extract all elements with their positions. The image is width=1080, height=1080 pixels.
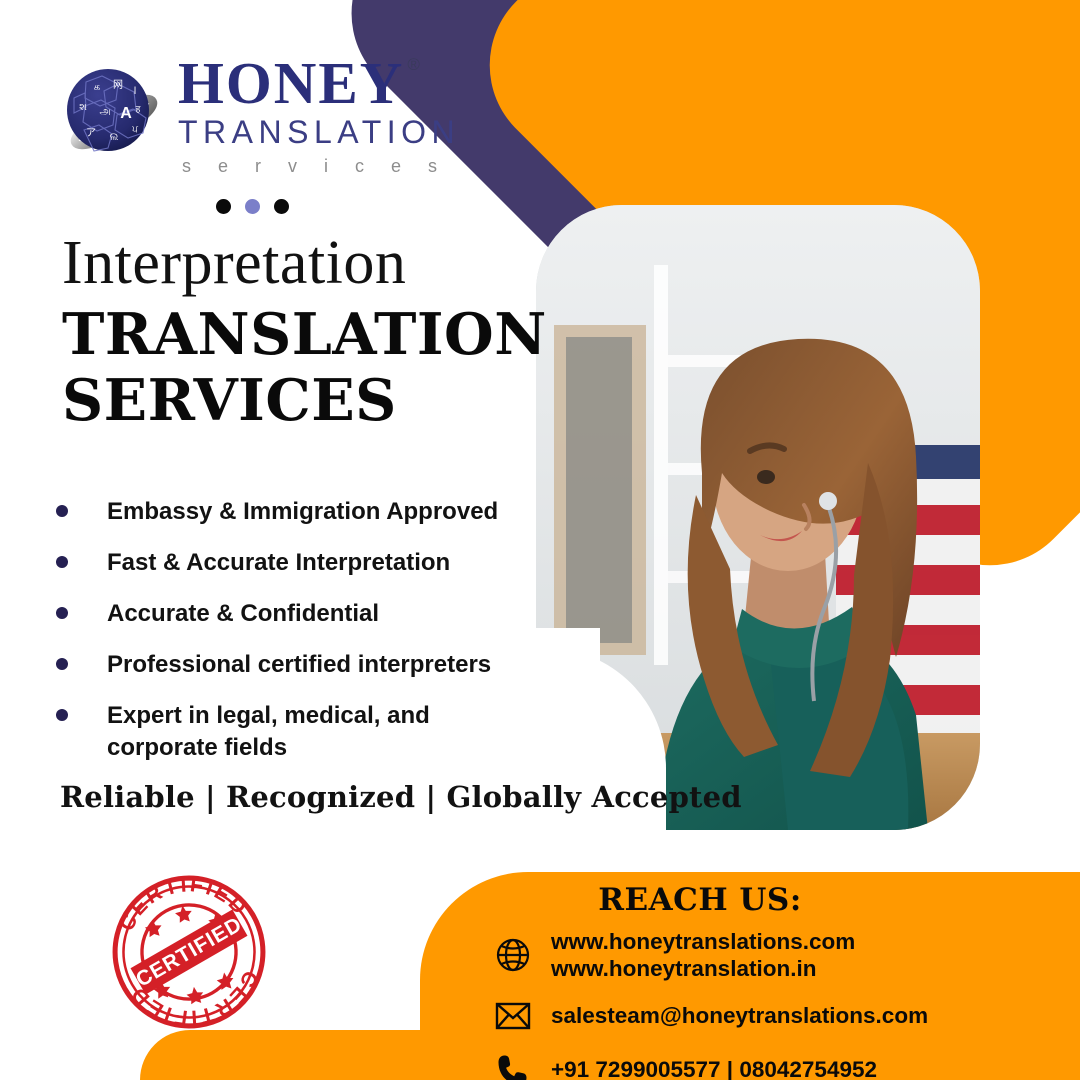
list-item-label: Professional certified interpreters bbox=[107, 649, 491, 681]
svg-text:ア: ア bbox=[86, 128, 96, 139]
interpreter-photo-illustration bbox=[536, 205, 980, 830]
globe-icon bbox=[492, 934, 534, 976]
headline-main-line-2: SERVICES bbox=[62, 368, 532, 434]
headline-script-line: Interpretation bbox=[62, 232, 532, 294]
svg-text:க: க bbox=[94, 82, 100, 93]
list-item: Accurate & Confidential bbox=[56, 598, 526, 630]
page-title: Interpretation TRANSLATION SERVICES bbox=[62, 232, 532, 434]
contact-row-phone[interactable]: +91 7299005577 | 08042754952 bbox=[492, 1049, 1062, 1080]
list-item-label: Accurate & Confidential bbox=[107, 598, 379, 630]
svg-text:A: A bbox=[120, 105, 132, 122]
list-item-label: Fast & Accurate Interpretation bbox=[107, 547, 450, 579]
poster-canvas: க 网 ا શ அ ह ア ଲ ਪ A HONEY ® TRANSLATION bbox=[0, 0, 1080, 1080]
list-item: Fast & Accurate Interpretation bbox=[56, 547, 526, 579]
logo-dot-separator bbox=[216, 199, 456, 214]
brand-logo[interactable]: க 网 ا શ அ ह ア ଲ ਪ A HONEY ® TRANSLATION bbox=[56, 50, 456, 214]
email-address[interactable]: salesteam@honeytranslations.com bbox=[551, 1002, 928, 1029]
hero-photo bbox=[536, 205, 980, 830]
website-primary[interactable]: www.honeytranslations.com bbox=[551, 928, 855, 955]
svg-text:ह: ह bbox=[136, 105, 141, 115]
svg-text:શ: શ bbox=[79, 102, 87, 113]
feature-list: Embassy & Immigration Approved Fast & Ac… bbox=[56, 496, 526, 782]
phone-icon bbox=[492, 1049, 534, 1080]
svg-text:அ: அ bbox=[99, 106, 110, 117]
registered-trademark-icon: ® bbox=[407, 56, 420, 73]
website-secondary[interactable]: www.honeytranslation.in bbox=[551, 955, 855, 982]
list-item-label: Embassy & Immigration Approved bbox=[107, 496, 498, 528]
dot-3-icon bbox=[274, 199, 289, 214]
dot-1-icon bbox=[216, 199, 231, 214]
logo-name: HONEY bbox=[178, 54, 404, 113]
svg-text:ا: ا bbox=[134, 86, 137, 97]
envelope-icon bbox=[492, 995, 534, 1037]
phone-numbers[interactable]: +91 7299005577 | 08042754952 bbox=[551, 1056, 877, 1080]
svg-text:ଲ: ଲ bbox=[110, 132, 119, 143]
list-item-label: Expert in legal, medical, and corporate … bbox=[107, 700, 526, 764]
logo-subtitle: TRANSLATION bbox=[178, 115, 460, 150]
list-item: Professional certified interpreters bbox=[56, 649, 526, 681]
contact-heading: REACH US: bbox=[420, 882, 980, 918]
bullet-dot-icon bbox=[56, 505, 68, 517]
bullet-dot-icon bbox=[56, 709, 68, 721]
headline-main-line-1: TRANSLATION bbox=[62, 302, 532, 368]
bullet-dot-icon bbox=[56, 658, 68, 670]
svg-text:网: 网 bbox=[113, 79, 123, 91]
dot-2-icon bbox=[245, 199, 260, 214]
svg-text:ਪ: ਪ bbox=[131, 125, 138, 135]
globe-icon: க 网 ا શ அ ह ア ଲ ਪ A bbox=[56, 60, 164, 168]
logo-tertiary: s e r v i c e s bbox=[178, 156, 460, 177]
list-item: Expert in legal, medical, and corporate … bbox=[56, 700, 526, 764]
bullet-dot-icon bbox=[56, 556, 68, 568]
tagline: Reliable | Recognized | Globally Accepte… bbox=[60, 780, 742, 814]
bullet-dot-icon bbox=[56, 607, 68, 619]
contact-list: www.honeytranslations.com www.honeytrans… bbox=[492, 928, 1062, 1080]
list-item: Embassy & Immigration Approved bbox=[56, 496, 526, 528]
contact-row-email[interactable]: salesteam@honeytranslations.com bbox=[492, 995, 1062, 1037]
contact-row-website[interactable]: www.honeytranslations.com www.honeytrans… bbox=[492, 928, 1062, 983]
certified-stamp-icon: CERTIFIED CERTIFIED CERTIFIED bbox=[94, 857, 284, 1047]
